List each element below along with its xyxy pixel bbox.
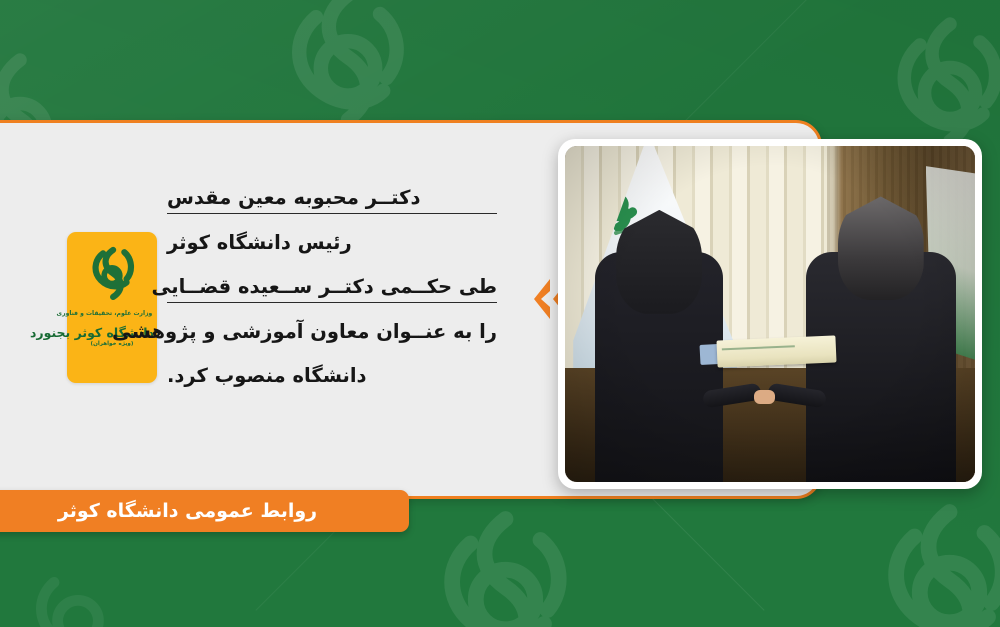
- university-seal-logo: وزارت علوم، تحقیقات و فناوری دانشگاه کوث…: [67, 232, 157, 383]
- public-relations-ribbon: روابط عمومی دانشگاه کوثر: [0, 490, 409, 532]
- ribbon-label: روابط عمومی دانشگاه کوثر: [58, 500, 323, 522]
- headline-line-5: دانشگاه منصوب کرد.: [167, 366, 497, 386]
- seal-ministry-text: وزارت علوم، تحقیقات و فناوری: [72, 311, 153, 318]
- kowsar-emblem-icon: [84, 241, 140, 307]
- headline-line-4: را به عنــوان معاون آموزشی و پژوهشی: [167, 322, 497, 342]
- photo-vignette: [565, 146, 975, 482]
- headline-line-1: دکتــر محبوبه معین مقدس: [167, 188, 497, 214]
- seal-subtitle: (ویژه خواهران): [70, 342, 154, 348]
- poster-canvas: وزارت علوم، تحقیقات و فناوری دانشگاه کوث…: [0, 0, 1000, 627]
- headline-line-3: طی حکــمی دکتــر ســعیده قضــایی: [167, 277, 497, 303]
- ceremony-photo: [565, 146, 975, 482]
- headline-line-2: رئیس دانشگاه کوثر: [167, 233, 497, 253]
- photo-card: [558, 139, 982, 489]
- headline-block: دکتــر محبوبه معین مقدس رئیس دانشگاه کوث…: [167, 188, 497, 386]
